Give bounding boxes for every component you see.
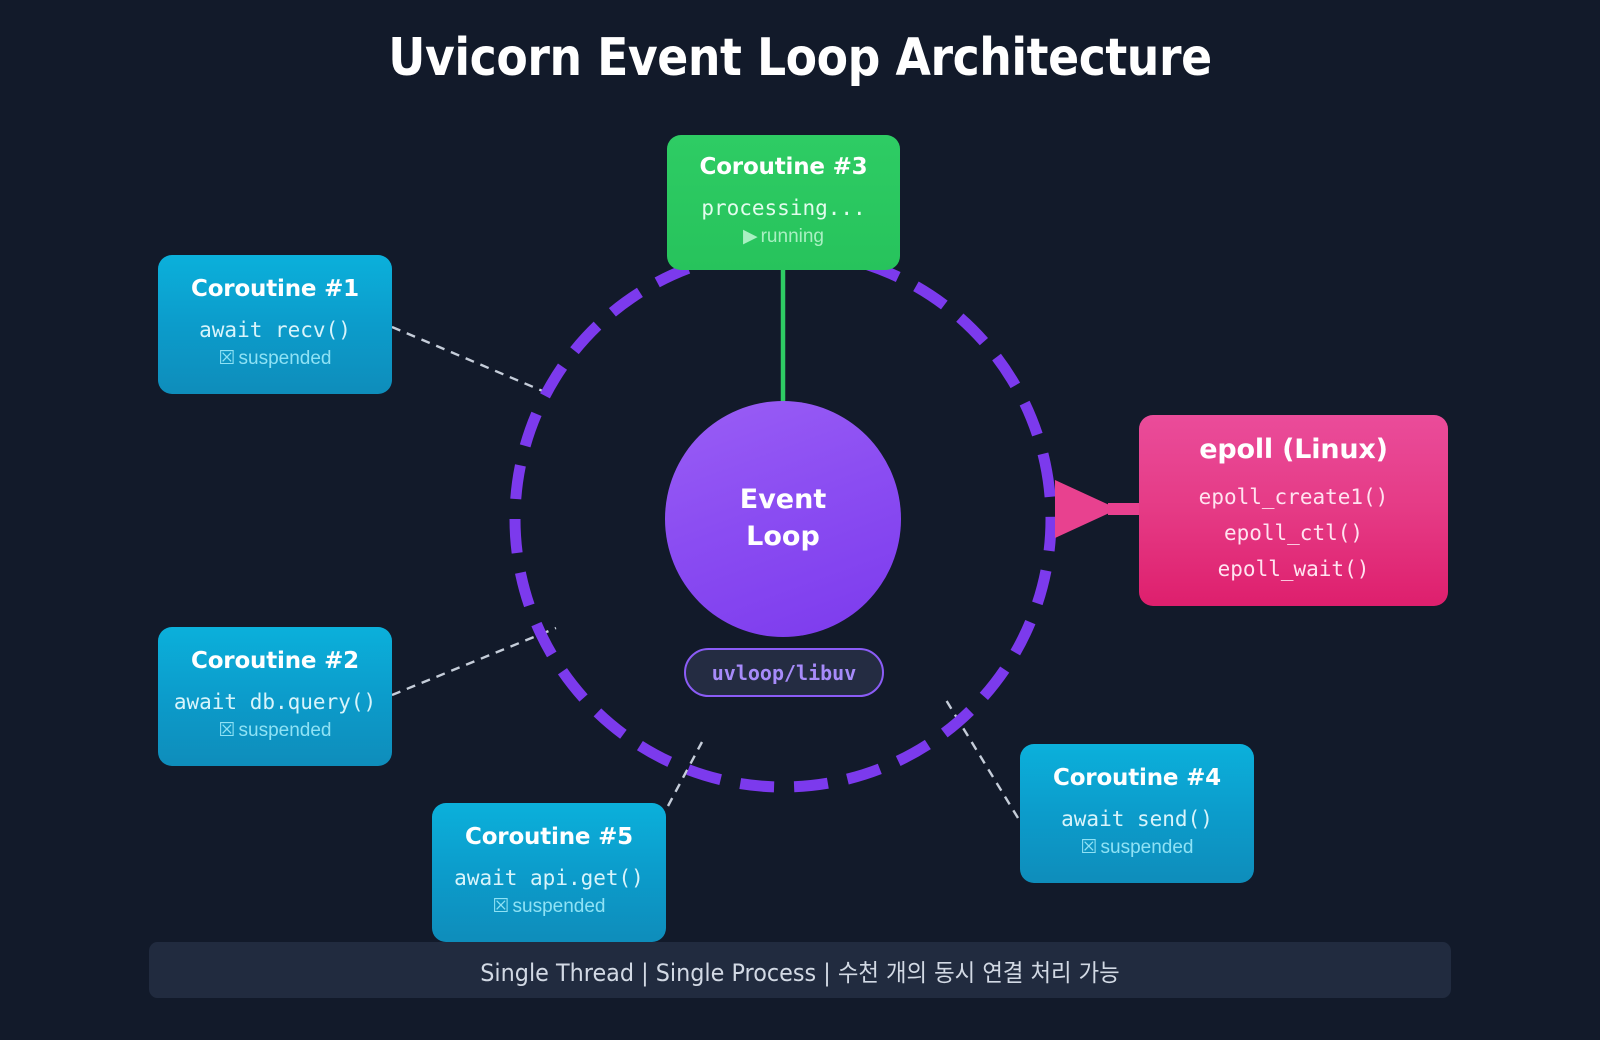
- suspended-icon: ☒: [218, 719, 235, 741]
- node-code: await api.get(): [454, 863, 644, 893]
- footer-bar: Single Thread | Single Process | 수천 개의 동…: [149, 942, 1451, 998]
- node-coroutine-5[interactable]: Coroutine #5 await api.get() ☒suspended: [432, 803, 666, 942]
- node-status-label: suspended: [239, 720, 332, 741]
- node-status: ☒suspended: [492, 893, 605, 921]
- node-title: Coroutine #3: [700, 154, 868, 180]
- node-epoll[interactable]: epoll (Linux) epoll_create1() epoll_ctl(…: [1139, 415, 1448, 606]
- node-status-label: running: [761, 226, 824, 247]
- node-status: ☒suspended: [218, 345, 331, 373]
- node-code: await db.query(): [174, 687, 376, 717]
- epoll-arrow-icon: [1055, 480, 1118, 538]
- event-loop-node[interactable]: Event Loop: [665, 401, 901, 637]
- epoll-call: epoll_ctl(): [1199, 515, 1389, 551]
- node-code: await recv(): [199, 315, 351, 345]
- node-status: ☒suspended: [1080, 834, 1193, 862]
- node-code: processing...: [701, 193, 865, 223]
- suspended-icon: ☒: [218, 347, 235, 369]
- node-title: Coroutine #4: [1053, 765, 1221, 791]
- suspended-icon: ☒: [492, 895, 509, 917]
- connector-coroutine-4: [946, 700, 1018, 818]
- node-status: ▶running: [743, 223, 824, 251]
- event-loop-label-line2: Loop: [746, 520, 820, 555]
- node-status-label: suspended: [513, 896, 606, 917]
- epoll-call: epoll_wait(): [1199, 551, 1389, 587]
- running-icon: ▶: [743, 225, 758, 247]
- page-title: Uvicorn Event Loop Architecture: [96, 28, 1504, 88]
- node-title: epoll (Linux): [1199, 434, 1388, 465]
- event-loop-label-line1: Event: [740, 483, 826, 518]
- connector-coroutine-5: [668, 742, 702, 806]
- node-title: Coroutine #5: [465, 824, 633, 850]
- node-status-label: suspended: [1101, 837, 1194, 858]
- node-status-label: suspended: [239, 348, 332, 369]
- epoll-call-list: epoll_create1() epoll_ctl() epoll_wait(): [1199, 479, 1389, 587]
- node-title: Coroutine #1: [191, 276, 359, 302]
- node-coroutine-2[interactable]: Coroutine #2 await db.query() ☒suspended: [158, 627, 392, 766]
- footer-text: Single Thread | Single Process | 수천 개의 동…: [480, 953, 1119, 988]
- node-coroutine-1[interactable]: Coroutine #1 await recv() ☒suspended: [158, 255, 392, 394]
- suspended-icon: ☒: [1080, 836, 1097, 858]
- connector-coroutine-1: [392, 327, 545, 392]
- epoll-arrow-stem: [1108, 503, 1142, 515]
- uvloop-badge[interactable]: uvloop/libuv: [684, 648, 884, 697]
- node-title: Coroutine #2: [191, 648, 359, 674]
- node-coroutine-4[interactable]: Coroutine #4 await send() ☒suspended: [1020, 744, 1254, 883]
- node-status: ☒suspended: [218, 717, 331, 745]
- node-code: await send(): [1061, 804, 1213, 834]
- node-coroutine-3[interactable]: Coroutine #3 processing... ▶running: [667, 135, 900, 270]
- epoll-call: epoll_create1(): [1199, 479, 1389, 515]
- uvloop-label: uvloop/libuv: [712, 661, 857, 685]
- diagram-canvas: Uvicorn Event Loop Architecture Event Lo…: [0, 0, 1600, 1040]
- connector-coroutine-2: [392, 628, 556, 695]
